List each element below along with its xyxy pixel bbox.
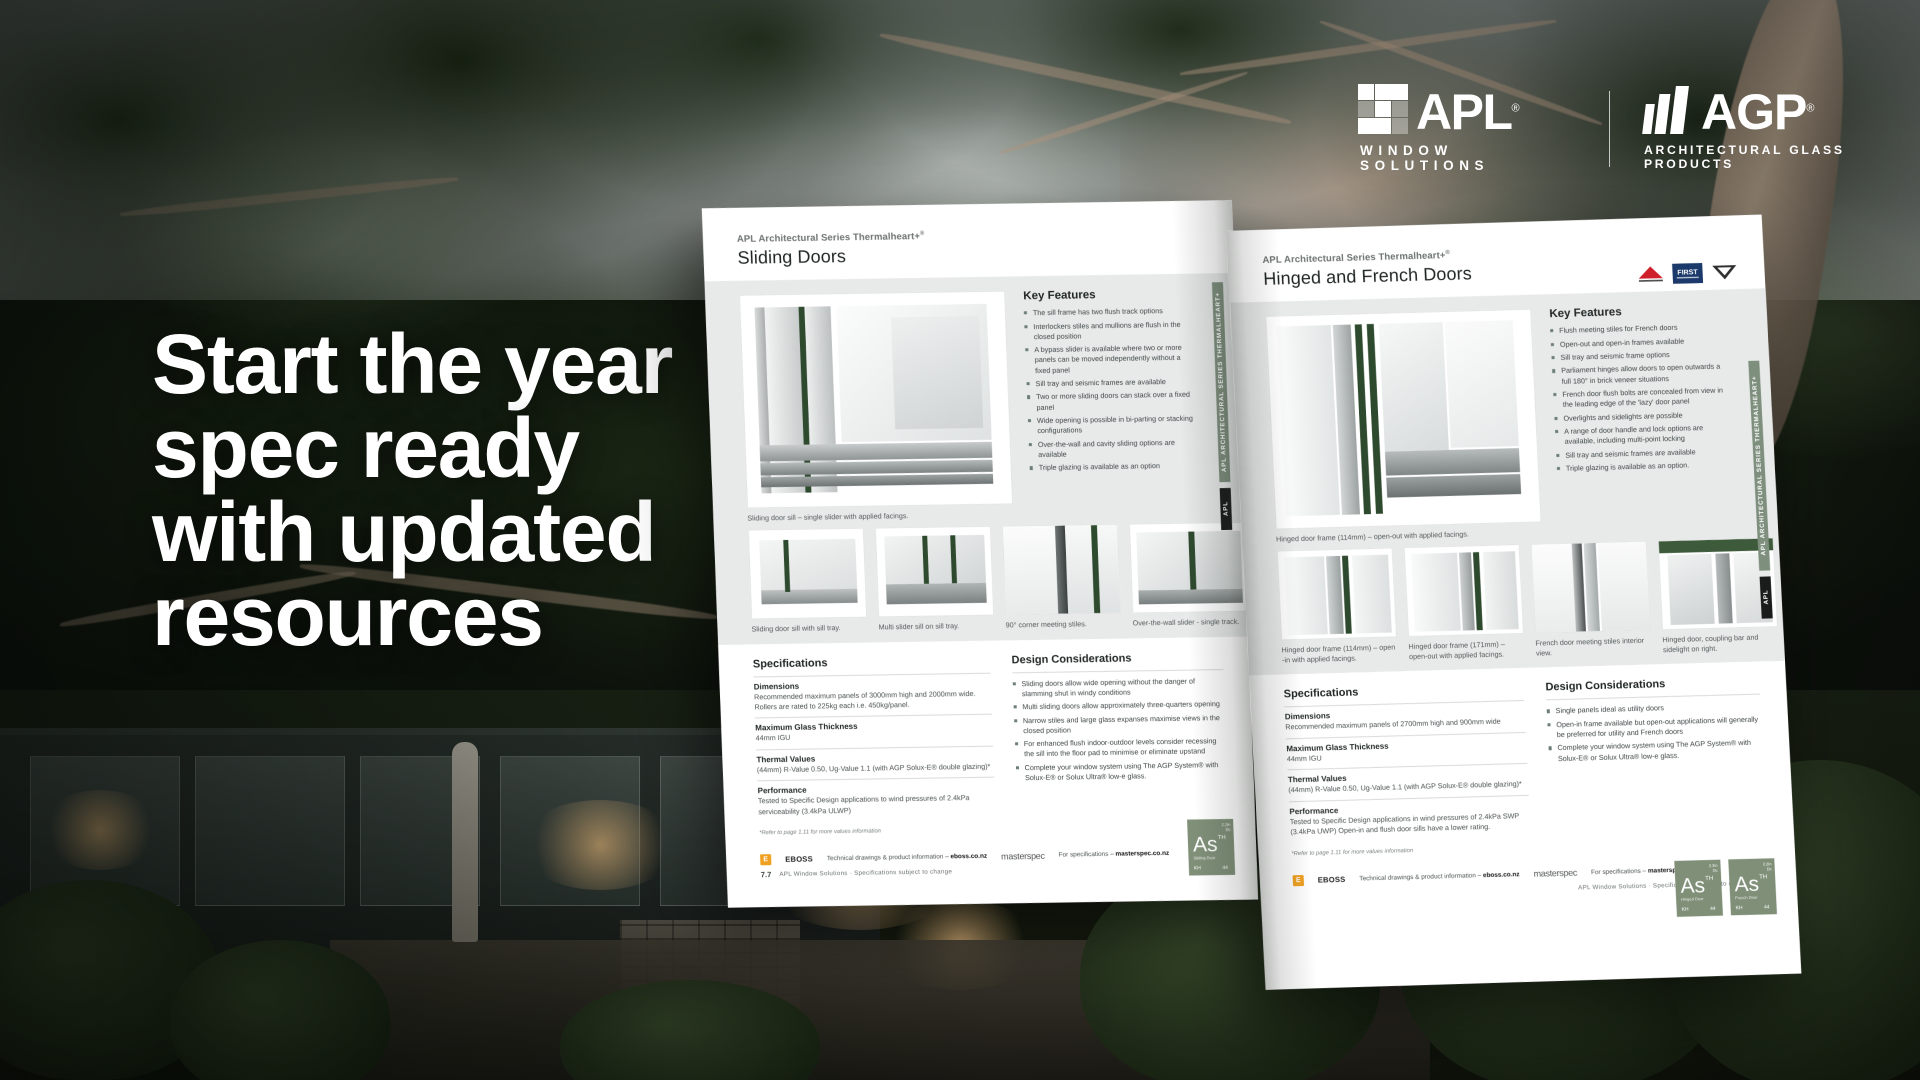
left-design-list: Sliding doors allow wide opening without…: [1012, 669, 1228, 784]
list-item: Sill tray and seismic frames are availab…: [1026, 377, 1194, 390]
left-specifications: Specifications Dimensions Recommended ma…: [753, 654, 996, 836]
left-design-considerations: Design Considerations Sliding doors allo…: [1011, 651, 1229, 833]
apl-registered-mark: ®: [1512, 102, 1519, 114]
spec-row: Performance Tested to Specific Design ap…: [757, 777, 995, 823]
list-item: Two or more sliding doors can stack over…: [1027, 390, 1196, 413]
brochure-left-page: APL Architectural Series Thermalheart+® …: [702, 200, 1258, 908]
list-item: Triple glazing is available as an option…: [1557, 459, 1727, 474]
sliding-door-sill-diagram: [739, 291, 1013, 509]
right-specifications-title: Specifications: [1283, 682, 1523, 700]
altherm-logo-icon: [1635, 264, 1666, 285]
list-item: Wide opening is possible in bi-parting o…: [1028, 414, 1197, 437]
right-hero-figure: Hinged door frame (114mm) – open-out wit…: [1265, 309, 1542, 545]
eboss-name: EBOSS: [785, 855, 813, 864]
over-the-wall-slider-diagram: [1129, 522, 1248, 614]
as-energy-label: 2.2inDc As TH Hinged Door KH 44: [1674, 859, 1723, 916]
spec-row: Dimensions Recommended maximum panels of…: [753, 672, 991, 718]
right-as-energy-labels: 2.2inDc As TH Hinged Door KH 44 2.2inDc …: [1674, 858, 1777, 917]
logo-divider: [1609, 91, 1610, 167]
agp-tagline: ARCHITECTURAL GLASS PRODUCTS: [1644, 143, 1920, 171]
thumbnail-caption: Hinged door frame (114mm) – open -in wit…: [1281, 642, 1398, 665]
thumbnail-figure: Multi slider sill on sill tray.: [875, 526, 995, 632]
list-item: A bypass slider is available where two o…: [1025, 343, 1194, 376]
brand-logo-lockup: APL® WINDOW SOLUTIONS AGP® ARCHITECTURAL…: [1358, 84, 1920, 173]
eboss-name: EBOSS: [1318, 874, 1346, 884]
list-item: Open-in frame available but open-out app…: [1547, 714, 1762, 740]
left-page-imprint: APL Window Solutions · Specifications su…: [779, 868, 952, 878]
list-item: Complete your window system using The AG…: [1015, 760, 1227, 784]
right-page-figure-band: Hinged door frame (114mm) – open-out wit…: [1231, 288, 1785, 675]
thumbnail-caption: 90° corner meeting stiles.: [1005, 619, 1121, 631]
list-item: For enhanced flush indoor-outdoor levels…: [1015, 736, 1227, 760]
list-item: Parliament hinges allow doors to open ou…: [1552, 362, 1723, 387]
thumbnail-figure: French door meeting stiles interior view…: [1531, 540, 1653, 657]
left-page-figure-band: Sliding door sill – single slider with a…: [704, 273, 1248, 644]
spec-value: Tested to Specific Design applications t…: [758, 793, 996, 818]
brochure-right-page: APL Architectural Series Thermalheart+® …: [1226, 214, 1802, 989]
list-item: The sill frame has two flush track optio…: [1024, 306, 1192, 319]
thumbnail-figure: Sliding door sill with sill tray.: [748, 528, 868, 634]
right-design-list: Single panels ideal as utility doors Ope…: [1546, 694, 1763, 764]
thumbnail-caption: French door meeting stiles interior view…: [1535, 635, 1652, 658]
list-item: Sill tray and seismic frame options: [1551, 349, 1721, 364]
right-key-features-list: Flush meeting stiles for French doors Op…: [1550, 322, 1727, 475]
thumbnail-figure: Over-the-wall slider - single track.: [1129, 522, 1249, 628]
hinged-door-frame-diagram: [1265, 309, 1541, 530]
agp-registered-mark: ®: [1806, 102, 1813, 114]
list-item: A range of door handle and lock options …: [1555, 422, 1726, 447]
left-page-number: 7.7: [761, 870, 772, 879]
right-thumbnail-row: Hinged door frame (114mm) – open -in wit…: [1242, 531, 1784, 666]
right-key-features-title: Key Features: [1549, 304, 1720, 321]
left-key-features-title: Key Features: [1023, 288, 1191, 303]
list-item: Narrow stiles and large glass expanses m…: [1014, 713, 1226, 737]
left-key-features: Key Features The sill frame has two flus…: [1023, 288, 1200, 519]
left-as-energy-labels: 2.2inDc As TH Sliding Door KH 44: [1187, 819, 1235, 876]
eboss-icon: E: [760, 854, 771, 865]
agp-wordmark: AGP®: [1701, 91, 1813, 134]
vantage-logo-icon: [1709, 262, 1740, 283]
multi-slider-sill-diagram: [875, 526, 994, 618]
masterspec-logo: masterspec: [1001, 851, 1045, 862]
brochure-spread: APL Architectural Series Thermalheart+® …: [700, 169, 1797, 976]
left-side-tab-apl: APL: [1220, 488, 1233, 530]
apl-wordmark: APL®: [1416, 91, 1518, 134]
thumbnail-figure: Hinged door frame (114mm) – open -in wit…: [1277, 547, 1399, 664]
agp-logo: AGP® ARCHITECTURAL GLASS PRODUCTS: [1644, 86, 1920, 171]
list-item: Complete your window system using The AG…: [1548, 738, 1763, 764]
right-page-header: APL Architectural Series Thermalheart+® …: [1227, 215, 1766, 291]
masterspec-note: For specifications – masterspec.co.nz: [1058, 850, 1169, 859]
list-item: French door flush bolts are concealed fr…: [1553, 385, 1724, 410]
left-specs-area: Specifications Dimensions Recommended ma…: [718, 636, 1256, 845]
list-item: Sliding doors allow wide opening without…: [1012, 676, 1224, 700]
eboss-icon: E: [1293, 874, 1305, 885]
left-design-title: Design Considerations: [1011, 651, 1223, 666]
right-design-considerations: Design Considerations Single panels idea…: [1545, 676, 1767, 850]
svg-text:FIRST: FIRST: [1677, 269, 1698, 277]
eboss-note: Technical drawings & product information…: [827, 853, 988, 863]
thumbnail-caption: Sliding door sill with sill tray.: [751, 623, 867, 635]
left-page-title: Sliding Doors: [737, 241, 1204, 269]
list-item: Sill tray and seismic frames are availab…: [1556, 446, 1726, 461]
list-item: Multi sliding doors allow approximately …: [1013, 699, 1225, 713]
right-specs-footnote: *Refer to page 1.11 for more values info…: [1291, 844, 1531, 856]
list-item: Over-the-wall and cavity sliding options…: [1029, 437, 1198, 460]
right-key-features: Key Features Flush meeting stiles for Fr…: [1549, 304, 1730, 537]
left-thumbnail-row: Sliding door sill with sill tray. Multi …: [714, 516, 1248, 635]
agp-bars-icon: [1644, 86, 1692, 134]
first-windows-logo-icon: FIRST: [1672, 263, 1703, 284]
corner-meeting-stiles-diagram: [1002, 524, 1121, 616]
left-specifications-title: Specifications: [753, 654, 990, 670]
thumbnail-figure: Hinged door frame (171mm) – open-out wit…: [1404, 544, 1526, 661]
as-energy-label: 2.2inDc As TH Sliding Door KH 44: [1187, 819, 1235, 876]
eboss-note: Technical drawings & product information…: [1359, 871, 1520, 882]
french-door-meeting-stiles-diagram: [1531, 540, 1651, 633]
list-item: Overlights and sidelights are possible: [1554, 409, 1724, 424]
spec-row: Thermal Values (44mm) R-Value 0.50, Ug-V…: [756, 746, 994, 781]
apl-logo: APL® WINDOW SOLUTIONS: [1358, 84, 1575, 173]
list-item: Flush meeting stiles for French doors: [1550, 322, 1720, 337]
thumbnail-caption: Multi slider sill on sill tray.: [878, 621, 994, 633]
hinged-door-frame-171-openout-diagram: [1404, 544, 1524, 637]
thumbnail-caption: Hinged door frame (171mm) – open-out wit…: [1408, 639, 1525, 662]
certification-marks: FIRST: [1635, 262, 1740, 285]
list-item: Triple glazing is available as an option: [1030, 461, 1198, 474]
spec-row: Performance Tested to Specific Design ap…: [1289, 794, 1531, 842]
thumbnail-caption: Over-the-wall slider - single track.: [1132, 617, 1248, 629]
list-item: Interlockers stiles and mullions are flu…: [1024, 319, 1193, 342]
sliding-door-sill-tray-diagram: [748, 528, 867, 620]
right-specifications: Specifications Dimensions Recommended ma…: [1283, 682, 1531, 856]
thumbnail-caption: Hinged door, coupling bar and sidelight …: [1662, 632, 1779, 655]
left-hero-figure: Sliding door sill – single slider with a…: [739, 291, 1014, 524]
left-specs-footnote: *Refer to page 1.11 for more values info…: [759, 827, 996, 837]
thumbnail-figure: 90° corner meeting stiles.: [1002, 524, 1122, 630]
spec-row: Maximum Glass Thickness 44mm IGU: [755, 714, 993, 749]
left-page-footer: E EBOSS Technical drawings & product inf…: [726, 837, 1257, 880]
right-specs-area: Specifications Dimensions Recommended ma…: [1249, 661, 1794, 865]
left-page-header: APL Architectural Series Thermalheart+® …: [702, 200, 1234, 269]
hinged-door-frame-114-openin-diagram: [1277, 547, 1397, 640]
as-energy-label: 2.2inDc As TH French Door KH 44: [1728, 858, 1777, 915]
left-key-features-list: The sill frame has two flush track optio…: [1024, 306, 1198, 474]
right-side-tab-apl: APL: [1760, 576, 1773, 618]
apl-tagline: WINDOW SOLUTIONS: [1360, 143, 1575, 173]
masterspec-logo: masterspec: [1533, 868, 1577, 879]
right-design-title: Design Considerations: [1545, 676, 1760, 694]
apl-checker-mark-icon: [1358, 84, 1408, 134]
spec-value: Recommended maximum panels of 3000mm hig…: [754, 688, 992, 713]
list-item: Open-out and open-in frames available: [1551, 335, 1721, 350]
